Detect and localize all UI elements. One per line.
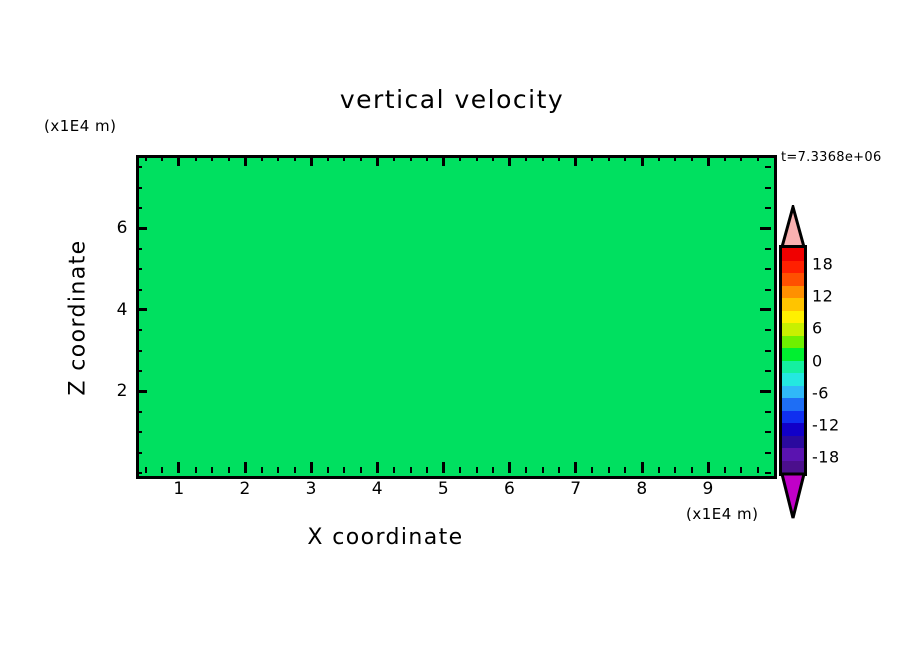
- x-major-tick: [508, 462, 511, 473]
- y-minor-tick: [136, 472, 142, 474]
- y-axis-title: Z coordinate: [66, 198, 91, 438]
- colorbar-over-arrow: [775, 205, 811, 249]
- colorbar-under-arrow: [775, 470, 811, 520]
- x-minor-tick-top: [525, 155, 527, 161]
- y-minor-tick-right: [765, 329, 771, 331]
- colorbar-tick-label: 0: [812, 351, 823, 370]
- x-minor-tick-top: [211, 155, 213, 161]
- y-minor-tick-right: [765, 166, 771, 168]
- x-major-tick: [442, 462, 445, 473]
- colorbar-band: [782, 311, 804, 324]
- x-minor-tick-top: [674, 155, 676, 161]
- x-minor-tick-top: [658, 155, 660, 161]
- x-minor-tick-top: [277, 155, 279, 161]
- colorbar-band: [782, 448, 804, 461]
- x-axis-title: X coordinate: [0, 525, 771, 550]
- x-minor-tick: [410, 467, 412, 473]
- x-major-tick-top: [376, 155, 379, 166]
- x-minor-tick: [558, 467, 560, 473]
- x-minor-tick-top: [558, 155, 560, 161]
- y-tick-label: 4: [102, 300, 128, 320]
- x-minor-tick-top: [740, 155, 742, 161]
- y-major-tick: [136, 308, 147, 311]
- x-minor-tick-top: [459, 155, 461, 161]
- x-minor-tick-top: [410, 155, 412, 161]
- x-minor-tick: [294, 467, 296, 473]
- colorbar-band: [782, 386, 804, 399]
- y-minor-tick-right: [765, 472, 771, 474]
- y-minor-tick: [136, 166, 142, 168]
- x-minor-tick-top: [476, 155, 478, 161]
- x-tick-label: 8: [636, 479, 647, 499]
- x-major-tick-top: [508, 155, 511, 166]
- y-minor-tick-right: [765, 248, 771, 250]
- x-minor-tick: [261, 467, 263, 473]
- colorbar-band: [782, 411, 804, 424]
- y-minor-tick-right: [765, 268, 771, 270]
- y-major-tick-right: [760, 227, 771, 230]
- x-minor-tick: [277, 467, 279, 473]
- y-minor-tick: [136, 207, 142, 209]
- x-major-tick-top: [177, 155, 180, 166]
- x-minor-tick-top: [145, 155, 147, 161]
- y-major-tick-right: [760, 390, 771, 393]
- colorbar-tick-label: 6: [812, 319, 823, 338]
- x-minor-tick: [327, 467, 329, 473]
- colorbar-band: [782, 423, 804, 436]
- colorbar-band: [782, 298, 804, 311]
- y-minor-tick: [136, 431, 142, 433]
- x-minor-tick: [674, 467, 676, 473]
- x-minor-tick-top: [393, 155, 395, 161]
- y-minor-tick: [136, 350, 142, 352]
- x-major-tick: [244, 462, 247, 473]
- x-minor-tick-top: [161, 155, 163, 161]
- x-minor-tick: [195, 467, 197, 473]
- x-tick-label: 7: [570, 479, 581, 499]
- contour-field-canvas: [139, 158, 774, 476]
- x-minor-tick: [476, 467, 478, 473]
- colorbar-band: [782, 348, 804, 361]
- x-minor-tick: [624, 467, 626, 473]
- y-minor-tick: [136, 289, 142, 291]
- x-minor-tick: [161, 467, 163, 473]
- colorbar-band: [782, 261, 804, 274]
- x-minor-tick-top: [327, 155, 329, 161]
- x-major-tick: [376, 462, 379, 473]
- x-minor-tick-top: [492, 155, 494, 161]
- x-minor-tick-top: [261, 155, 263, 161]
- x-minor-tick: [658, 467, 660, 473]
- x-minor-tick: [757, 467, 759, 473]
- y-minor-tick-right: [765, 350, 771, 352]
- y-minor-tick: [136, 268, 142, 270]
- x-minor-tick: [608, 467, 610, 473]
- x-minor-tick-top: [757, 155, 759, 161]
- x-minor-tick-top: [624, 155, 626, 161]
- y-minor-tick: [136, 187, 142, 189]
- y-minor-tick: [136, 329, 142, 331]
- y-minor-tick: [136, 411, 142, 413]
- time-annotation: t=7.3368e+06: [781, 150, 882, 165]
- x-major-tick-top: [442, 155, 445, 166]
- colorbar-band: [782, 336, 804, 349]
- y-minor-tick-right: [765, 411, 771, 413]
- colorbar-band: [782, 248, 804, 261]
- x-minor-tick: [724, 467, 726, 473]
- x-axis-unit-label: (x1E4 m): [686, 505, 759, 523]
- x-major-tick: [177, 462, 180, 473]
- x-major-tick-top: [244, 155, 247, 166]
- x-major-tick: [641, 462, 644, 473]
- y-tick-label: 6: [102, 218, 128, 238]
- x-minor-tick: [525, 467, 527, 473]
- colorbar-tick-label: 12: [812, 287, 833, 306]
- x-minor-tick-top: [691, 155, 693, 161]
- colorbar-tick-label: 18: [812, 255, 833, 274]
- colorbar-band: [782, 398, 804, 411]
- x-minor-tick: [343, 467, 345, 473]
- x-minor-tick-top: [542, 155, 544, 161]
- colorbar[interactable]: [782, 248, 804, 473]
- x-minor-tick: [360, 467, 362, 473]
- y-tick-label: 2: [102, 381, 128, 401]
- x-tick-label: 5: [438, 479, 449, 499]
- x-major-tick: [707, 462, 710, 473]
- x-minor-tick: [228, 467, 230, 473]
- x-minor-tick-top: [608, 155, 610, 161]
- colorbar-tick-label: -6: [812, 383, 829, 402]
- y-minor-tick: [136, 452, 142, 454]
- colorbar-tick-label: -12: [812, 415, 840, 434]
- x-tick-label: 4: [372, 479, 383, 499]
- x-minor-tick: [492, 467, 494, 473]
- x-tick-label: 1: [173, 479, 184, 499]
- colorbar-band: [782, 373, 804, 386]
- y-minor-tick-right: [765, 452, 771, 454]
- colorbar-band: [782, 273, 804, 286]
- y-minor-tick-right: [765, 431, 771, 433]
- x-major-tick-top: [707, 155, 710, 166]
- x-minor-tick-top: [195, 155, 197, 161]
- x-tick-label: 2: [239, 479, 250, 499]
- x-minor-tick: [426, 467, 428, 473]
- x-minor-tick-top: [724, 155, 726, 161]
- x-tick-label: 6: [504, 479, 515, 499]
- contour-plot-area: [136, 155, 777, 479]
- y-minor-tick: [136, 370, 142, 372]
- x-minor-tick-top: [343, 155, 345, 161]
- y-minor-tick-right: [765, 370, 771, 372]
- x-minor-tick: [740, 467, 742, 473]
- x-tick-label: 9: [702, 479, 713, 499]
- x-minor-tick-top: [360, 155, 362, 161]
- x-major-tick-top: [641, 155, 644, 166]
- x-minor-tick-top: [294, 155, 296, 161]
- y-axis-unit-label: (x1E4 m): [44, 117, 117, 135]
- x-minor-tick: [542, 467, 544, 473]
- page-title: vertical velocity: [0, 85, 904, 114]
- x-minor-tick: [393, 467, 395, 473]
- colorbar-tick-label: -18: [812, 447, 840, 466]
- y-minor-tick: [136, 248, 142, 250]
- x-minor-tick-top: [591, 155, 593, 161]
- x-minor-tick: [145, 467, 147, 473]
- x-major-tick: [310, 462, 313, 473]
- y-major-tick: [136, 390, 147, 393]
- y-minor-tick-right: [765, 207, 771, 209]
- colorbar-band: [782, 286, 804, 299]
- x-minor-tick-top: [228, 155, 230, 161]
- x-minor-tick: [691, 467, 693, 473]
- x-minor-tick: [211, 467, 213, 473]
- x-minor-tick: [591, 467, 593, 473]
- x-major-tick-top: [574, 155, 577, 166]
- colorbar-band: [782, 361, 804, 374]
- x-minor-tick: [459, 467, 461, 473]
- y-minor-tick-right: [765, 289, 771, 291]
- x-major-tick-top: [310, 155, 313, 166]
- colorbar-band: [782, 436, 804, 449]
- x-major-tick: [574, 462, 577, 473]
- x-minor-tick-top: [426, 155, 428, 161]
- y-major-tick-right: [760, 308, 771, 311]
- colorbar-band: [782, 323, 804, 336]
- y-major-tick: [136, 227, 147, 230]
- x-tick-label: 3: [306, 479, 317, 499]
- y-minor-tick-right: [765, 187, 771, 189]
